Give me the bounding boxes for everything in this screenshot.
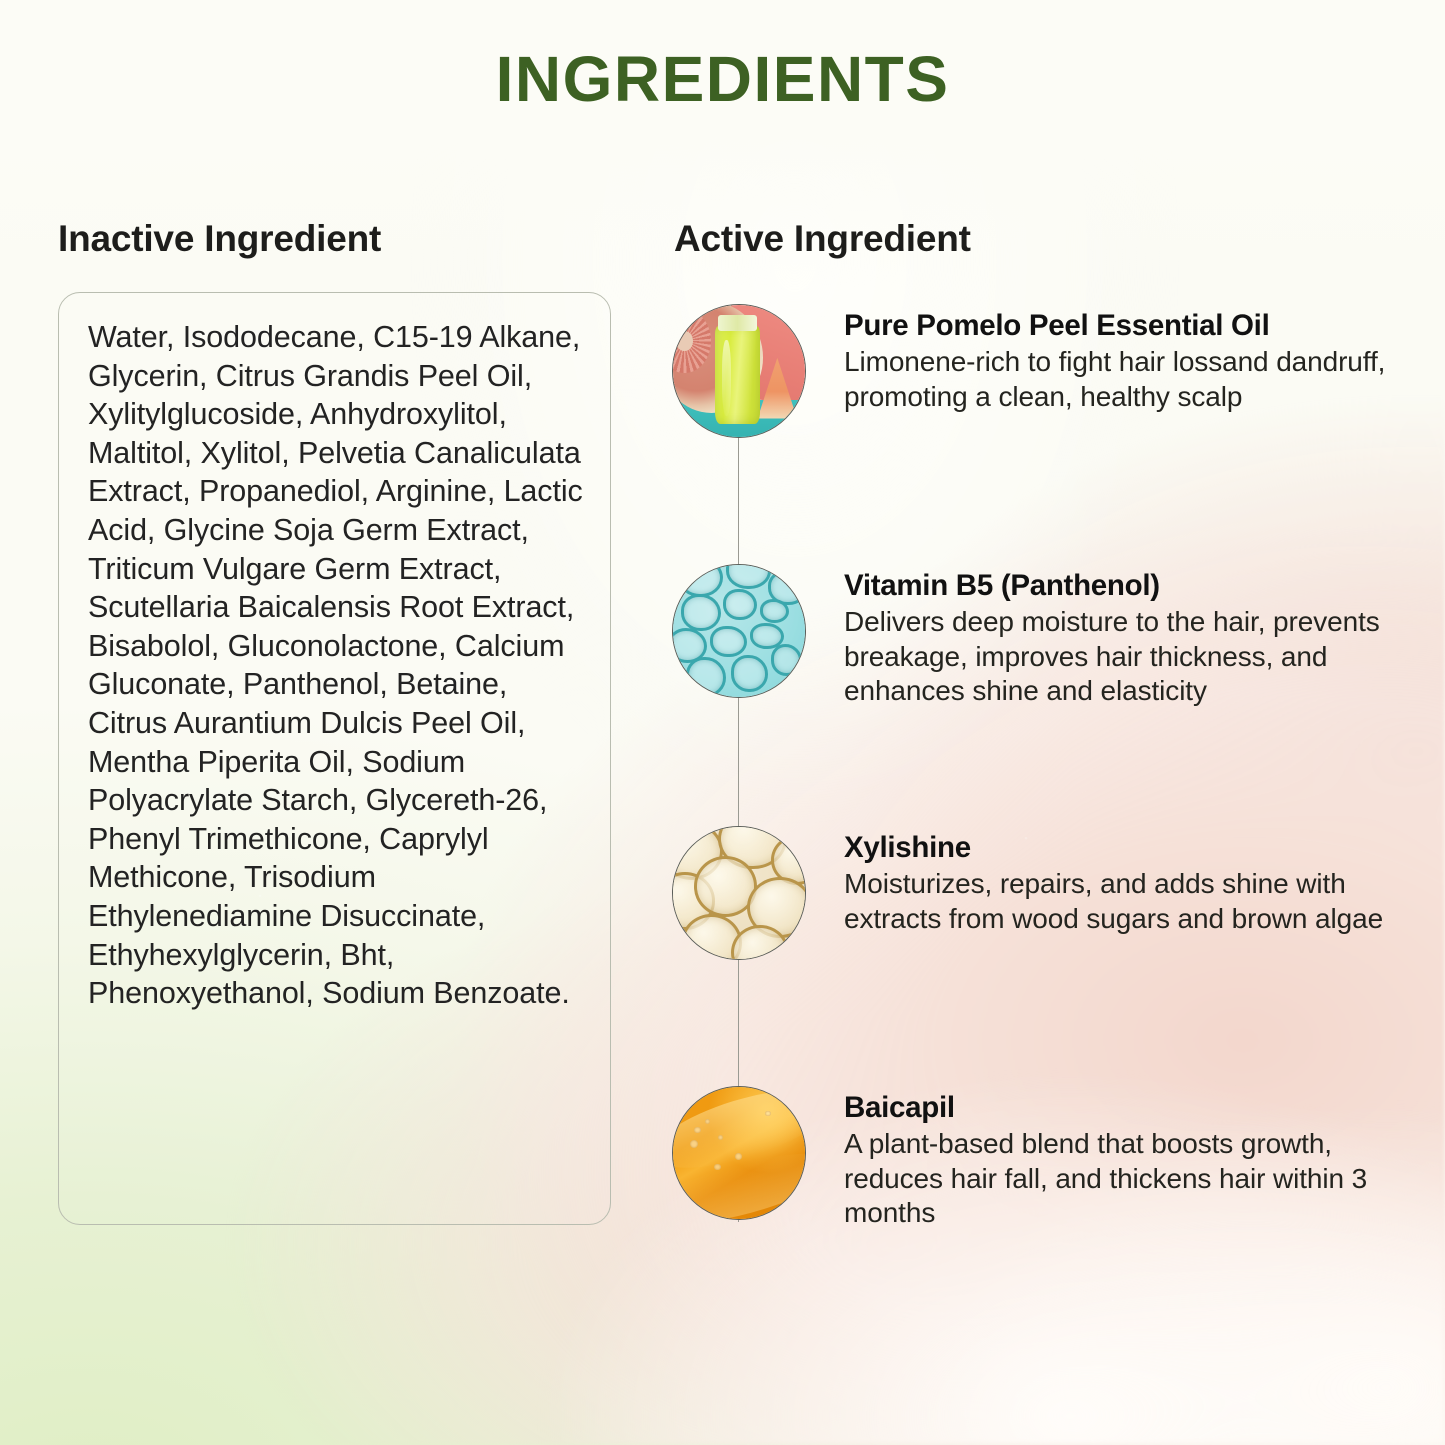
ingredient-name: Vitamin B5 (Panthenol) (844, 568, 1414, 604)
orange-gel-drop-photo (673, 1087, 805, 1219)
inactive-ingredient-list: Water, Isododecane, C15-19 Alkane, Glyce… (88, 318, 590, 1013)
ingredient-description: Limonene-rich to fight hair lossand dand… (844, 345, 1414, 414)
inactive-ingredient-heading: Inactive Ingredient (58, 218, 381, 260)
ingredient-image-pomelo-oil (672, 304, 806, 438)
ingredient-description: Moisturizes, repairs, and adds shine wit… (844, 867, 1414, 936)
ingredient-name: Pure Pomelo Peel Essential Oil (844, 308, 1414, 344)
ingredient-image-vitamin-b5 (672, 564, 806, 698)
ingredient-description: Delivers deep moisture to the hair, prev… (844, 605, 1414, 709)
ingredient-name: Xylishine (844, 830, 1414, 866)
page-title: INGREDIENTS (0, 42, 1445, 116)
cyan-water-bubbles-photo (673, 565, 805, 697)
amber-oil-bubbles-photo (673, 827, 805, 959)
ingredient-image-baicapil (672, 1086, 806, 1220)
ingredients-infographic: INGREDIENTS Inactive Ingredient Water, I… (0, 0, 1445, 1445)
active-ingredient-heading: Active Ingredient (674, 218, 971, 260)
pomelo-oil-bottle-photo (673, 305, 805, 437)
ingredient-description: A plant-based blend that boosts growth, … (844, 1127, 1414, 1231)
ingredient-name: Baicapil (844, 1090, 1414, 1126)
ingredient-image-xylishine (672, 826, 806, 960)
